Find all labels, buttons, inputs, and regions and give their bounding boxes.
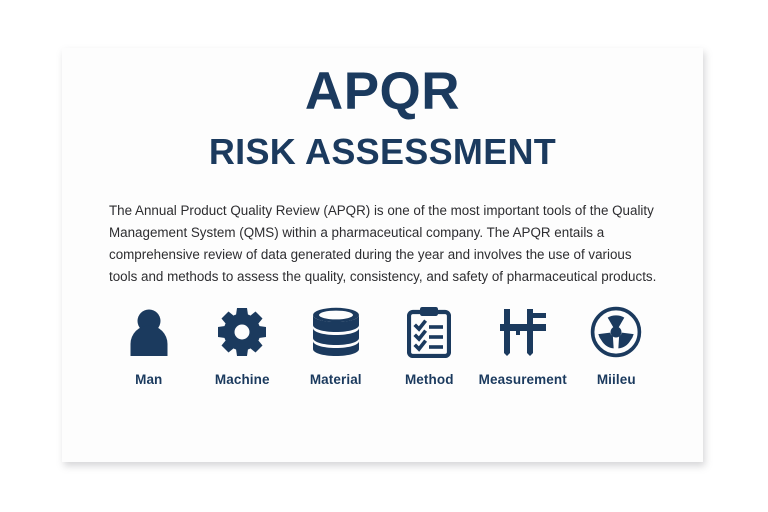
clipboard-checklist-icon bbox=[407, 306, 451, 358]
body-paragraph: The Annual Product Quality Review (APQR)… bbox=[109, 200, 658, 288]
icon-item-method: Method bbox=[383, 306, 477, 387]
icon-item-measurement: Measurement bbox=[476, 306, 570, 387]
page-background: APQR RISK ASSESSMENT The Annual Product … bbox=[0, 0, 768, 512]
icon-label-method: Method bbox=[405, 372, 454, 387]
icon-label-miileu: Miileu bbox=[597, 372, 636, 387]
icon-label-man: Man bbox=[135, 372, 162, 387]
page-subtitle: RISK ASSESSMENT bbox=[62, 134, 703, 170]
icon-item-machine: Machine bbox=[196, 306, 290, 387]
caliper-icon bbox=[497, 306, 549, 358]
icon-label-measurement: Measurement bbox=[479, 372, 567, 387]
icon-label-machine: Machine bbox=[215, 372, 270, 387]
icon-label-material: Material bbox=[310, 372, 362, 387]
icon-item-material: Material bbox=[289, 306, 383, 387]
icon-row: Man bbox=[102, 306, 663, 387]
gear-icon bbox=[217, 306, 267, 358]
info-card: APQR RISK ASSESSMENT The Annual Product … bbox=[62, 48, 703, 462]
title-block: APQR RISK ASSESSMENT bbox=[62, 65, 703, 170]
icon-item-miileu: Miileu bbox=[570, 306, 664, 387]
icon-item-man: Man bbox=[102, 306, 196, 387]
radiation-icon bbox=[590, 306, 642, 358]
person-icon bbox=[126, 306, 172, 358]
page-title: APQR bbox=[62, 65, 703, 118]
database-cylinder-icon bbox=[312, 306, 360, 358]
